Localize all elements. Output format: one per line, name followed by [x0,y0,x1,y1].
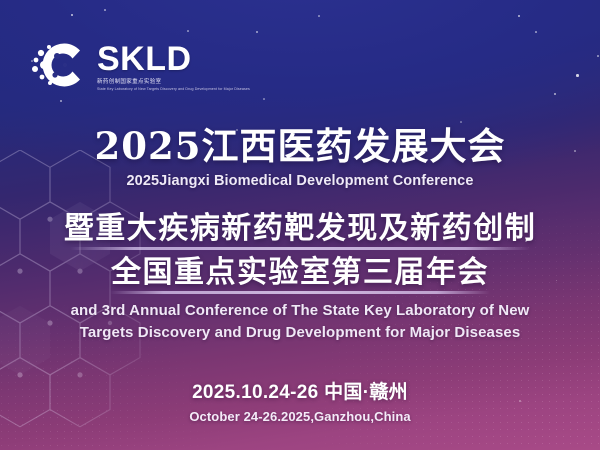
subtitle-cn-line2: 全国重点实验室第三届年会 [0,258,600,288]
underline-accent-1 [70,247,530,250]
conference-poster: SKLD 新药创制国家重点实验室 State Key Laboratory of… [0,0,600,450]
underline-accent-2 [110,291,490,294]
main-title-cn: 2025江西医药发展大会 [0,128,600,165]
event-date-cn: 2025.10.24-26 中国·赣州 [0,383,600,402]
subtitle-en-line1: and 3rd Annual Conference of The State K… [0,303,600,318]
main-title-en: 2025Jiangxi Biomedical Development Confe… [0,174,600,189]
poster-text-content: 2025江西医药发展大会 2025Jiangxi Biomedical Deve… [0,0,600,450]
subtitle-en-line2: Targets Discovery and Drug Development f… [0,325,600,340]
subtitle-cn-line1: 暨重大疾病新药靶发现及新药创制 [0,214,600,244]
event-date-en: October 24-26.2025,Ganzhou,China [0,410,600,423]
